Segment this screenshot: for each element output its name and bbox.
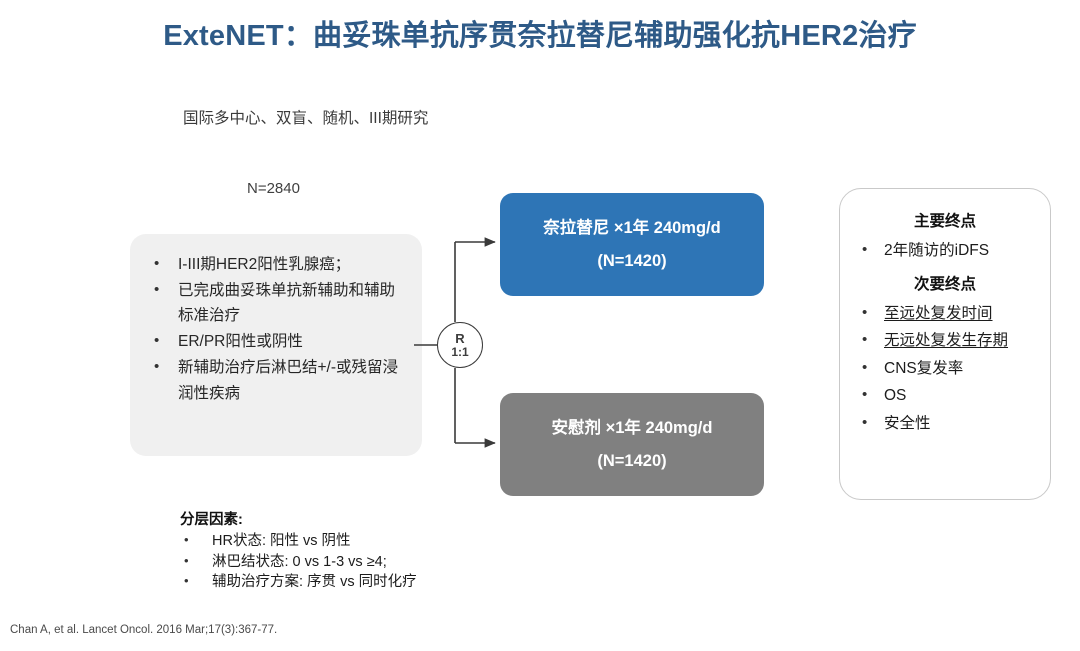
criteria-text: ER/PR阳性或阴性 — [178, 333, 303, 350]
list-item: • 至远处复发时间 — [850, 300, 1040, 328]
bullet-icon: • — [154, 329, 159, 353]
bullet-icon: • — [862, 410, 867, 437]
criteria-text: I-III期HER2阳性乳腺癌； — [178, 256, 350, 273]
stratification-text: HR状态: 阳性 vs 阴性 — [212, 533, 351, 549]
bullet-icon: • — [154, 278, 159, 302]
list-item: • 已完成曲妥珠单抗新辅助和辅助标准治疗 — [140, 278, 406, 328]
list-item: • 新辅助治疗后淋巴结+/-或残留浸润性疾病 — [140, 355, 406, 405]
endpoint-text: 安全性 — [884, 415, 931, 432]
criteria-text: 已完成曲妥珠单抗新辅助和辅助标准治疗 — [178, 282, 395, 324]
bullet-icon: • — [862, 382, 867, 409]
list-item: • HR状态: 阳性 vs 阴性 — [180, 531, 417, 552]
primary-endpoint-heading: 主要终点 — [850, 209, 1040, 231]
secondary-endpoint-list: • 至远处复发时间 • 无远处复发生存期 • CNS复发率 • OS • 安全性 — [850, 300, 1040, 438]
bullet-icon: • — [154, 252, 159, 276]
endpoint-text: OS — [884, 387, 906, 404]
stratification-text: 淋巴结状态: 0 vs 1-3 vs ≥4; — [212, 554, 387, 570]
list-item: • 安全性 — [850, 410, 1040, 438]
list-item: • CNS复发率 — [850, 355, 1040, 383]
bullet-icon: • — [862, 237, 867, 264]
treatment-arm-neratinib-box: 奈拉替尼 ×1年 240mg/d (N=1420) — [500, 193, 764, 296]
bullet-icon: • — [862, 300, 867, 327]
randomization-ratio: 1:1 — [451, 346, 468, 359]
eligibility-criteria-box: • I-III期HER2阳性乳腺癌； • 已完成曲妥珠单抗新辅助和辅助标准治疗 … — [130, 234, 422, 456]
bullet-icon: • — [184, 572, 189, 590]
eligibility-criteria-list: • I-III期HER2阳性乳腺癌； • 已完成曲妥珠单抗新辅助和辅助标准治疗 … — [140, 252, 406, 406]
stratification-factors-title: 分层因素: — [180, 508, 243, 529]
list-item: • I-III期HER2阳性乳腺癌； — [140, 252, 406, 277]
total-enrollment-label: N=2840 — [247, 180, 300, 197]
list-item: • ER/PR阳性或阴性 — [140, 329, 406, 354]
endpoints-panel: 主要终点 • 2年随访的iDFS 次要终点 • 至远处复发时间 • 无远处复发生… — [839, 188, 1051, 500]
secondary-endpoint-heading: 次要终点 — [850, 272, 1040, 294]
control-arm-sample-size: (N=1420) — [597, 445, 666, 477]
list-item: • 淋巴结状态: 0 vs 1-3 vs ≥4; — [180, 552, 417, 573]
primary-endpoint-list: • 2年随访的iDFS — [850, 237, 1040, 265]
bullet-icon: • — [154, 355, 159, 379]
bullet-icon: • — [184, 531, 189, 549]
study-design-subtitle: 国际多中心、双盲、随机、III期研究 — [183, 106, 428, 128]
endpoint-text: 无远处复发生存期 — [884, 332, 1008, 349]
control-arm-regimen: 安慰剂 ×1年 240mg/d — [552, 412, 713, 444]
bullet-icon: • — [862, 327, 867, 354]
treatment-arm-sample-size: (N=1420) — [597, 245, 666, 277]
randomization-circle: R 1:1 — [437, 322, 483, 368]
page-title: ExteNET：曲妥珠单抗序贯奈拉替尼辅助强化抗HER2治疗 — [0, 12, 1080, 54]
endpoint-text: 至远处复发时间 — [884, 305, 993, 322]
control-arm-placebo-box: 安慰剂 ×1年 240mg/d (N=1420) — [500, 393, 764, 496]
stratification-factors-list: • HR状态: 阳性 vs 阴性 • 淋巴结状态: 0 vs 1-3 vs ≥4… — [180, 531, 417, 593]
endpoint-text: CNS复发率 — [884, 360, 963, 377]
list-item: • 无远处复发生存期 — [850, 327, 1040, 355]
randomization-letter: R — [455, 332, 464, 346]
criteria-text: 新辅助治疗后淋巴结+/-或残留浸润性疾病 — [178, 359, 398, 401]
bullet-icon: • — [184, 552, 189, 570]
list-item: • 辅助治疗方案: 序贯 vs 同时化疗 — [180, 572, 417, 593]
endpoint-text: 2年随访的iDFS — [884, 242, 989, 259]
stratification-text: 辅助治疗方案: 序贯 vs 同时化疗 — [212, 574, 417, 590]
bullet-icon: • — [862, 355, 867, 382]
list-item: • OS — [850, 382, 1040, 410]
list-item: • 2年随访的iDFS — [850, 237, 1040, 265]
treatment-arm-regimen: 奈拉替尼 ×1年 240mg/d — [543, 212, 720, 244]
citation-reference: Chan A, et al. Lancet Oncol. 2016 Mar;17… — [10, 624, 277, 636]
